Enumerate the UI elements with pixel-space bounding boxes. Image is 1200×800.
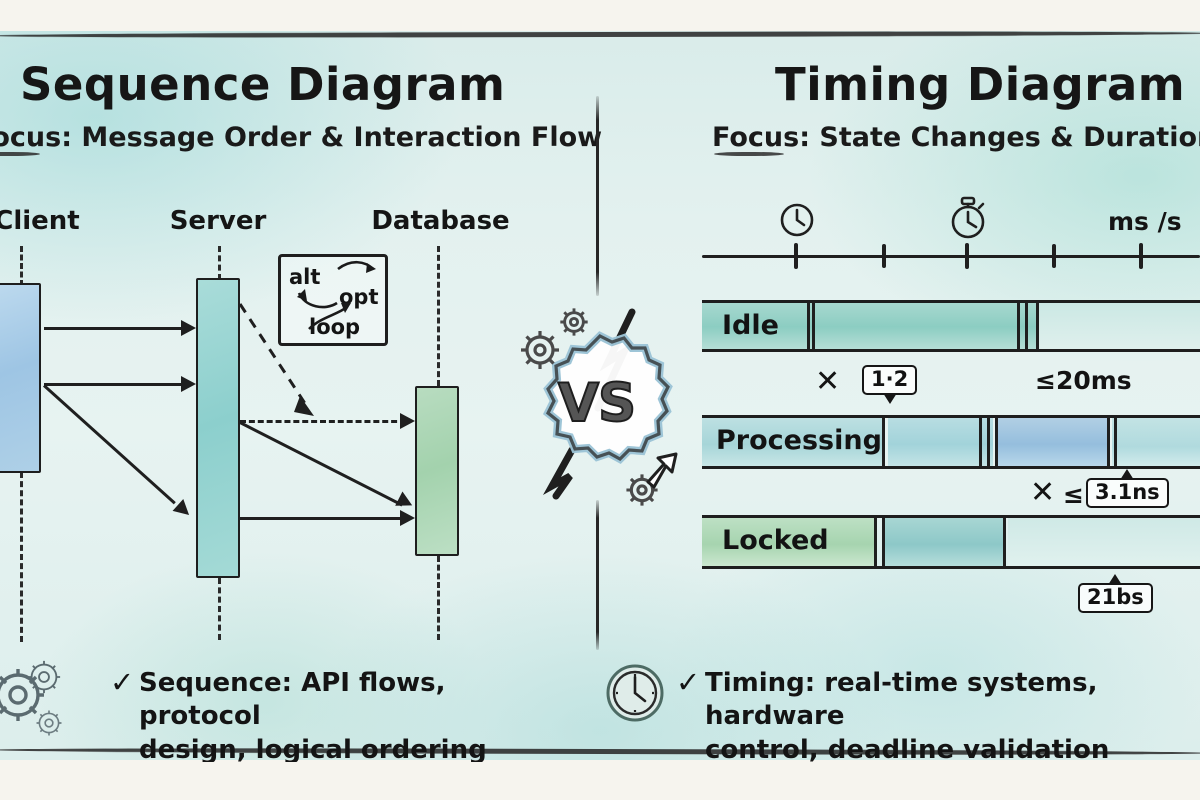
vs-badge: VS [512,300,692,500]
fragment-arrows [281,257,391,349]
paper-margin-top [0,0,1200,31]
arrow-up-right-icon [648,454,676,487]
clock-icon [605,663,665,723]
center-divider-top [596,96,599,296]
lane-edge [874,517,877,567]
left-footer-text: Sequence: API flows, protocol design, lo… [139,667,569,767]
arrowhead-client-server-1 [181,320,196,336]
x-mark-processing: ✕ [1030,478,1055,508]
activation-client [0,283,41,473]
left-title: Sequence Diagram [20,58,505,111]
activation-server [196,278,240,578]
axis-tick [794,243,798,269]
paper-margin-bottom [0,762,1200,800]
right-subtitle-underline [714,152,784,156]
lifeline-client [20,246,23,286]
time-axis [702,255,1200,258]
lane-edge [995,417,998,467]
lifeline-label-client: Client [0,206,102,236]
vs-label: VS [558,373,635,434]
x-mark-idle: ✕ [815,367,840,397]
stopwatch-icon [948,196,988,240]
callout-tail [1120,469,1134,480]
arrowhead-server-database-dashed [400,413,415,429]
lane-edge [987,417,990,467]
right-subtitle: Focus: State Changes & Duration [712,122,1200,153]
lifeline-client-lower [20,472,23,642]
lane-edge [812,302,815,350]
message-server-database-solid [240,517,406,520]
lane-fill-processing-d [1112,418,1200,466]
lane-edge [1017,302,1020,350]
axis-tick [1052,244,1056,268]
lifeline-database-lower [437,556,440,640]
arrowhead-server-database-solid [400,510,415,526]
callout-processing: 3.1ns [1086,478,1169,508]
center-divider-bottom [596,500,599,650]
duration-label-idle: ≤20ms [1035,366,1132,395]
lane-edge [1107,417,1110,467]
processing-prefix: ≤ [1063,480,1084,509]
callout-locked: 21bs [1078,583,1153,613]
lifeline-label-server: Server [153,206,283,236]
axis-tick [882,244,886,268]
left-footer-check: ✓ [110,665,134,699]
callout-locked-value: 21bs [1087,585,1144,609]
lane-edge [979,417,982,467]
clock-icon [779,202,815,238]
lane-fill-idle-tail [1039,303,1200,349]
lane-edge [882,417,885,467]
arrowhead-client-server-2 [181,376,196,392]
fragment-box: alt opt loop [278,254,388,346]
lane-fill-locked-c [1008,518,1200,566]
lifeline-label-database: Database [368,206,513,236]
lifeline-server-lower [218,578,221,640]
lane-edge [1003,517,1006,567]
lane-fill-processing-b [888,418,993,466]
lifeline-database [437,246,440,386]
gear-icon [521,331,559,369]
lane-label-idle: Idle [722,310,779,341]
lane-edge [1114,417,1117,467]
message-client-server-1 [44,327,184,330]
axis-unit-label: ms /s [1108,207,1182,236]
axis-tick [1139,243,1143,269]
gear-icon [560,308,587,335]
right-footer-check: ✓ [676,665,700,699]
lane-edge [882,517,885,567]
lane-edge [1025,302,1028,350]
lane-edge [807,302,810,350]
lane-label-locked: Locked [722,525,829,556]
lane-label-processing: Processing [716,425,882,456]
gears-icon [0,655,88,745]
right-title: Timing Diagram [775,58,1185,111]
callout-processing-value: 3.1ns [1095,480,1160,504]
axis-tick [965,243,969,269]
lane-fill-processing-c [997,418,1107,466]
callout-idle-transition: 1·2 [862,365,917,395]
activation-database [415,386,459,556]
right-footer-text: Timing: real-time systems, hardware cont… [705,667,1200,767]
lifeline-server [218,246,221,280]
lane-fill-locked-b [882,518,1004,566]
poster-canvas: Sequence Diagram Focus: Message Order & … [0,0,1200,800]
message-client-server-2 [44,383,184,386]
callout-idle-value: 1·2 [871,367,908,391]
callout-tail [883,393,897,404]
left-subtitle: Focus: Message Order & Interaction Flow [0,122,602,153]
callout-tail [1108,574,1122,585]
